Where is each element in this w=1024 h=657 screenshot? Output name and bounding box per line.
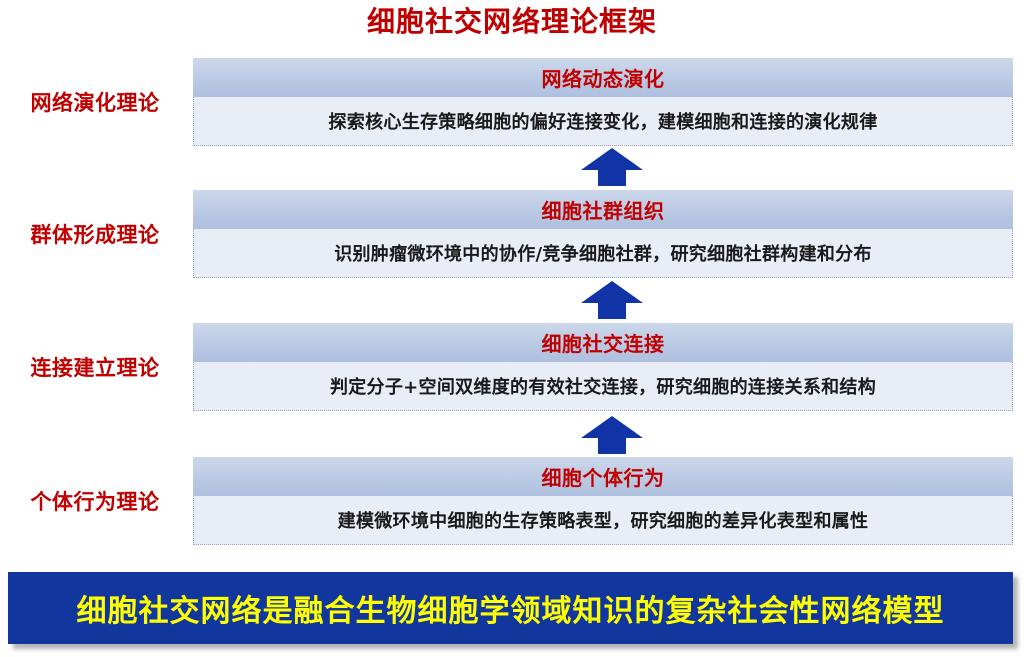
layer-heading-network-evolution: 网络动态演化 bbox=[193, 58, 1013, 97]
layer-label-community-formation: 群体形成理论 bbox=[0, 190, 190, 278]
layer-description-connection-establishment: 判定分子+空间双维度的有效社交连接，研究细胞的连接关系和结构 bbox=[193, 362, 1013, 411]
layer-row-connection-establishment: 连接建立理论 细胞社交连接 判定分子+空间双维度的有效社交连接，研究细胞的连接关… bbox=[0, 323, 1024, 411]
layer-row-individual-behavior: 个体行为理论 细胞个体行为 建模微环境中细胞的生存策略表型，研究细胞的差异化表型… bbox=[0, 457, 1024, 545]
layer-description-community-formation: 识别肿瘤微环境中的协作/竞争细胞社群，研究细胞社群构建和分布 bbox=[193, 229, 1013, 278]
summary-banner: 细胞社交网络是融合生物细胞学领域知识的复杂社会性网络模型 bbox=[8, 572, 1013, 644]
layer-row-network-evolution: 网络演化理论 网络动态演化 探索核心生存策略细胞的偏好连接变化，建模细胞和连接的… bbox=[0, 58, 1024, 146]
layer-heading-individual-behavior: 细胞个体行为 bbox=[193, 457, 1013, 496]
page-title: 细胞社交网络理论框架 bbox=[0, 4, 1024, 40]
arrow-up-icon-3 bbox=[581, 416, 643, 454]
arrow-up-icon-2 bbox=[581, 281, 643, 319]
layer-heading-community-formation: 细胞社群组织 bbox=[193, 190, 1013, 229]
layer-label-network-evolution: 网络演化理论 bbox=[0, 58, 190, 146]
layer-box-connection-establishment[interactable]: 细胞社交连接 判定分子+空间双维度的有效社交连接，研究细胞的连接关系和结构 bbox=[193, 323, 1013, 411]
summary-banner-text: 细胞社交网络是融合生物细胞学领域知识的复杂社会性网络模型 bbox=[77, 586, 945, 630]
layer-description-individual-behavior: 建模微环境中细胞的生存策略表型，研究细胞的差异化表型和属性 bbox=[193, 496, 1013, 545]
arrow-up-icon-1 bbox=[581, 148, 643, 186]
layer-box-individual-behavior[interactable]: 细胞个体行为 建模微环境中细胞的生存策略表型，研究细胞的差异化表型和属性 bbox=[193, 457, 1013, 545]
layer-box-community-formation[interactable]: 细胞社群组织 识别肿瘤微环境中的协作/竞争细胞社群，研究细胞社群构建和分布 bbox=[193, 190, 1013, 278]
layer-label-connection-establishment: 连接建立理论 bbox=[0, 323, 190, 411]
layer-heading-connection-establishment: 细胞社交连接 bbox=[193, 323, 1013, 362]
layer-box-network-evolution[interactable]: 网络动态演化 探索核心生存策略细胞的偏好连接变化，建模细胞和连接的演化规律 bbox=[193, 58, 1013, 146]
layer-label-individual-behavior: 个体行为理论 bbox=[0, 457, 190, 545]
layer-description-network-evolution: 探索核心生存策略细胞的偏好连接变化，建模细胞和连接的演化规律 bbox=[193, 97, 1013, 146]
layer-row-community-formation: 群体形成理论 细胞社群组织 识别肿瘤微环境中的协作/竞争细胞社群，研究细胞社群构… bbox=[0, 190, 1024, 278]
